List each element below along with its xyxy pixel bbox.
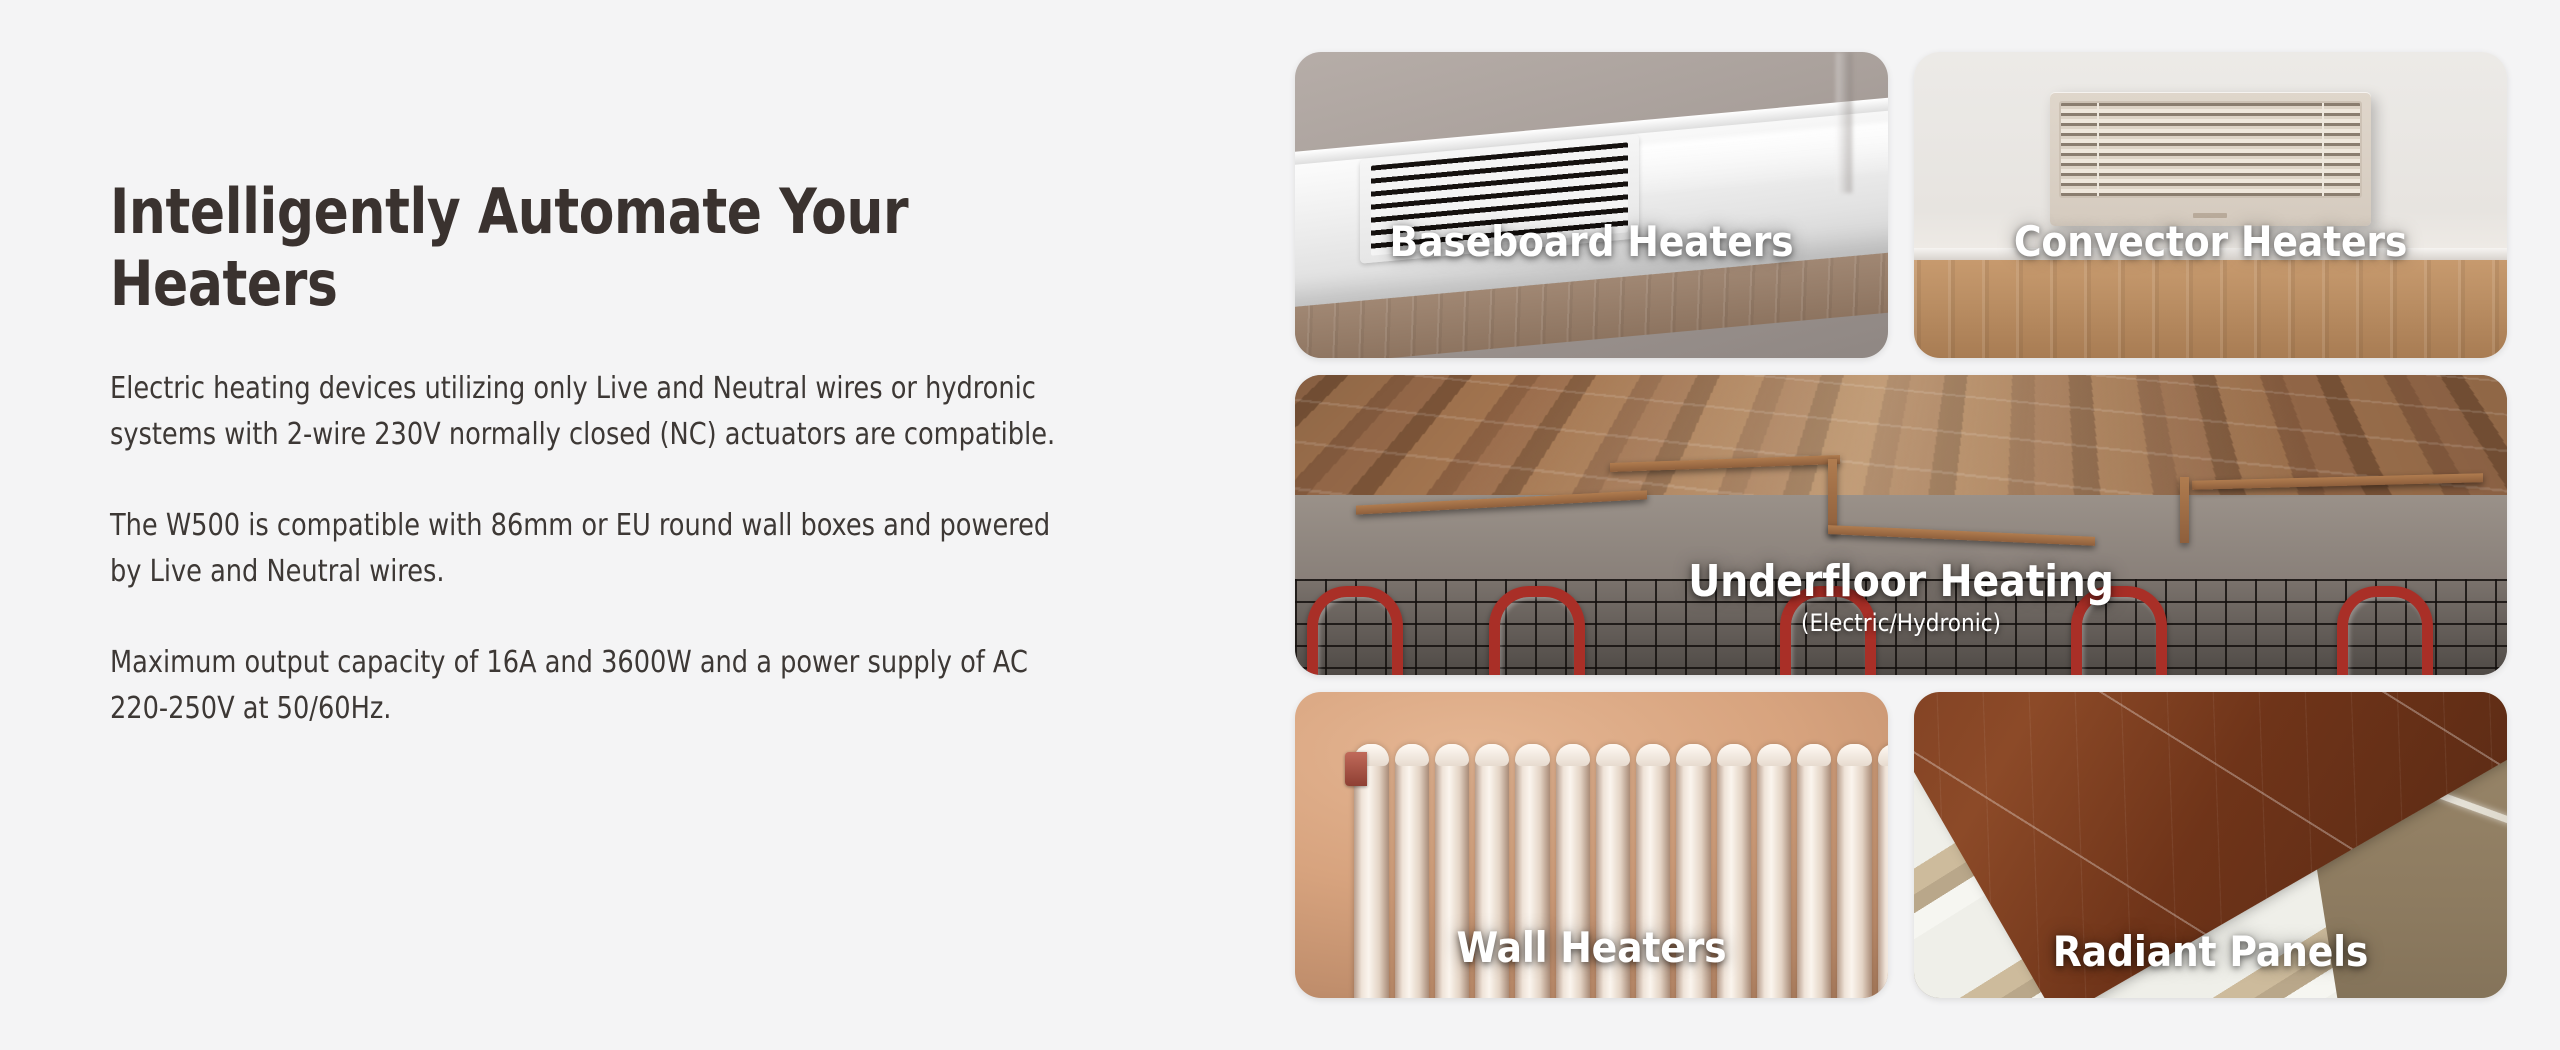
heater-type-gallery: Baseboard Heaters Convector Heaters — [1295, 52, 2507, 998]
description-paragraph-2: The W500 is compatible with 86mm or EU r… — [110, 503, 1060, 596]
page-title: Intelligently Automate Your Heaters — [110, 176, 1059, 320]
card-convector-heaters[interactable]: Convector Heaters — [1914, 52, 2507, 358]
text-column: Intelligently Automate Your Heaters Elec… — [110, 176, 1130, 733]
underfloor-heating-image — [1295, 375, 2507, 675]
promo-section: Intelligently Automate Your Heaters Elec… — [0, 0, 2560, 1050]
description-paragraph-3: Maximum output capacity of 16A and 3600W… — [110, 640, 1060, 733]
description-paragraph-1: Electric heating devices utilizing only … — [110, 366, 1060, 459]
convector-heater-image — [1914, 52, 2507, 358]
card-baseboard-heaters[interactable]: Baseboard Heaters — [1295, 52, 1888, 358]
card-underfloor-heating[interactable]: Underfloor Heating (Electric/Hydronic) — [1295, 375, 2507, 675]
baseboard-heater-image — [1295, 52, 1888, 358]
card-wall-heaters[interactable]: Wall Heaters — [1295, 692, 1888, 998]
wall-heater-image — [1295, 692, 1888, 998]
radiant-panels-image — [1914, 692, 2507, 998]
card-radiant-panels[interactable]: Radiant Panels — [1914, 692, 2507, 998]
